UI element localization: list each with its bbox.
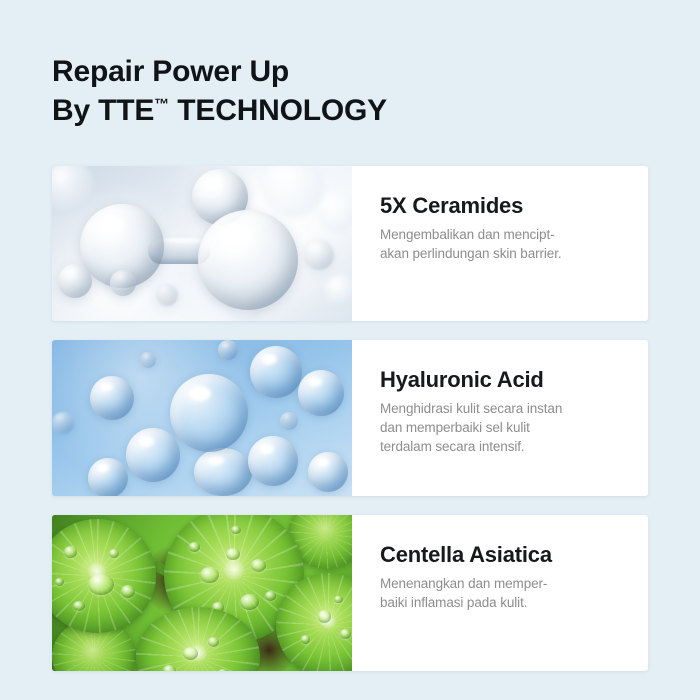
water-bubble [88,458,128,496]
water-bubble [248,436,298,486]
ingredient-description: Mengembalikan dan mencipt- akan perlindu… [380,225,628,263]
water-bubble [170,374,248,452]
water-droplet [88,574,114,596]
background-bubble [318,192,352,232]
water-droplet [226,548,240,560]
page-heading: Repair Power Up By TTE™ TECHNOLOGY [52,52,387,130]
ceramide-molecule-bubbles-image [52,166,352,321]
heading-line-1: Repair Power Up [52,52,387,91]
ingredient-card-body: Centella Asiatica Menenangkan dan memper… [352,515,648,671]
water-droplet [109,549,120,558]
hyaluronic-acid-water-bubbles-image [52,340,352,496]
water-droplet [340,629,350,638]
water-bubble [250,346,302,398]
water-bubble [298,370,344,416]
water-bubble [308,452,348,492]
heading-line-2: By TTE™ TECHNOLOGY [52,91,387,130]
water-bubble [126,428,180,482]
description-line: akan perlindungan skin barrier. [380,244,628,263]
water-droplet [163,665,175,671]
molecule-sphere [304,240,334,270]
molecule-sphere [198,210,298,310]
centella-leaf [52,519,156,633]
heading-brand-prefix: By TTE [52,94,154,127]
water-droplet [334,596,342,603]
water-droplet [218,669,228,671]
water-droplet [200,567,218,583]
heading-brand-suffix: TECHNOLOGY [169,94,387,127]
description-line: dan memperbaiki sel kulit [380,418,628,437]
ingredient-card[interactable]: Centella Asiatica Menenangkan dan memper… [52,515,648,671]
water-droplet [301,635,310,643]
water-droplet [64,546,77,557]
molecule-sphere [156,284,178,306]
description-line: baiki inflamasi pada kulit. [380,593,628,612]
water-droplet [121,585,135,598]
ingredient-card-body: 5X Ceramides Mengembalikan dan mencipt- … [352,166,648,321]
water-droplet [318,610,332,622]
description-line: Menenangkan dan memper- [380,574,628,593]
description-line: terdalam secara intensif. [380,437,628,456]
water-droplet [265,591,276,601]
ingredient-title: Centella Asiatica [380,541,628,568]
centella-asiatica-leaves-image [52,515,352,671]
ingredient-card[interactable]: 5X Ceramides Mengembalikan dan mencipt- … [52,166,648,321]
ingredient-description: Menenangkan dan memper- baiki inflamasi … [380,574,628,612]
ingredient-title: Hyaluronic Acid [380,366,628,393]
water-bubble [280,412,298,430]
water-droplet [183,647,198,660]
molecule-sphere [110,270,136,296]
water-droplet [208,637,219,647]
background-bubble [52,166,96,214]
ingredient-card[interactable]: Hyaluronic Acid Menghidrasi kulit secara… [52,340,648,496]
trademark-symbol: ™ [154,96,169,113]
molecule-sphere [58,264,92,298]
ingredient-card-body: Hyaluronic Acid Menghidrasi kulit secara… [352,340,648,496]
ingredient-card-list: 5X Ceramides Mengembalikan dan mencipt- … [52,166,648,671]
water-bubble [140,352,156,368]
ingredient-description: Menghidrasi kulit secara instan dan memp… [380,399,628,456]
background-bubble [262,166,324,218]
ingredient-title: 5X Ceramides [380,192,628,219]
water-bubble [90,376,134,420]
description-line: Mengembalikan dan mencipt- [380,225,628,244]
water-bubble [194,448,252,496]
background-bubble [324,274,352,308]
water-bubble [218,340,238,360]
water-bubble [52,412,74,434]
description-line: Menghidrasi kulit secara instan [380,399,628,418]
